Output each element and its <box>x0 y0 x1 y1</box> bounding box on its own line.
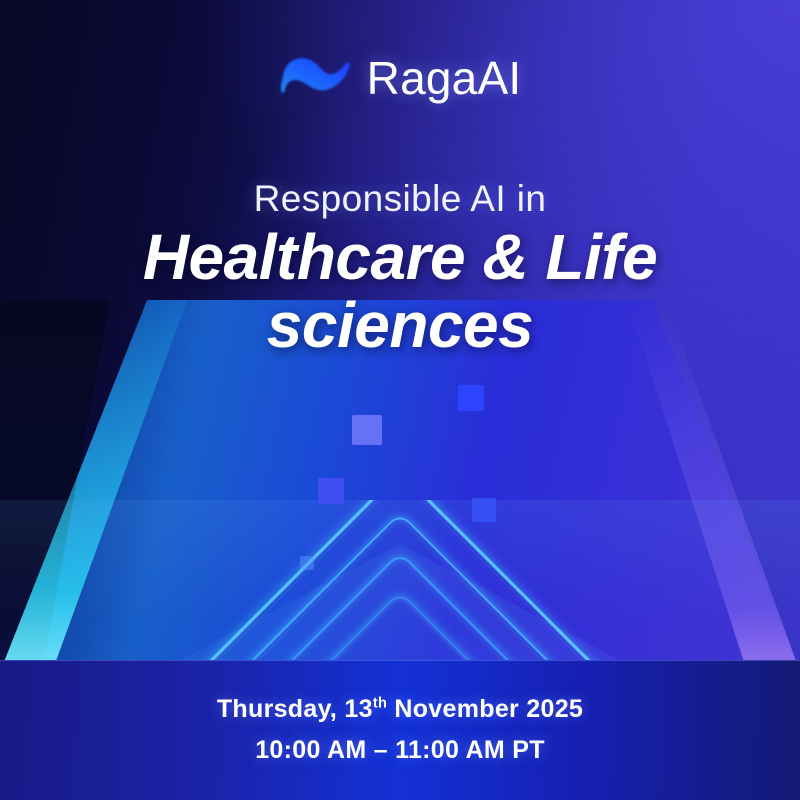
decor-square-2 <box>458 385 484 411</box>
decor-square-5 <box>300 556 314 570</box>
event-date-suffix: th <box>373 696 387 712</box>
event-date-number: 13 <box>344 695 372 723</box>
event-time: 10:00 AM – 11:00 AM PT <box>255 736 545 765</box>
chevron-graphic <box>0 500 800 675</box>
headline-main: Healthcare & Life sciences <box>0 224 800 360</box>
headline-line-1: Healthcare & Life <box>143 221 657 293</box>
decor-square-3 <box>318 478 344 504</box>
brand-name: RagaAI <box>367 55 522 101</box>
headline-block: Responsible AI in Healthcare & Life scie… <box>0 178 800 360</box>
decor-square-4 <box>472 498 496 522</box>
decor-square-1 <box>352 415 382 445</box>
headline-line-2: sciences <box>0 292 800 360</box>
webinar-promo-poster: RagaAI Responsible AI in Healthcare & Li… <box>0 0 800 800</box>
event-date: Thursday, 13th November 2025 <box>217 695 583 724</box>
raga-swoosh-logo-icon <box>279 52 351 104</box>
brand-lockup: RagaAI <box>0 52 800 104</box>
headline-eyebrow: Responsible AI in <box>0 178 800 220</box>
event-month-year: November 2025 <box>387 695 583 723</box>
event-day: Thursday, <box>217 695 345 723</box>
event-details-bar: Thursday, 13th November 2025 10:00 AM – … <box>0 660 800 800</box>
